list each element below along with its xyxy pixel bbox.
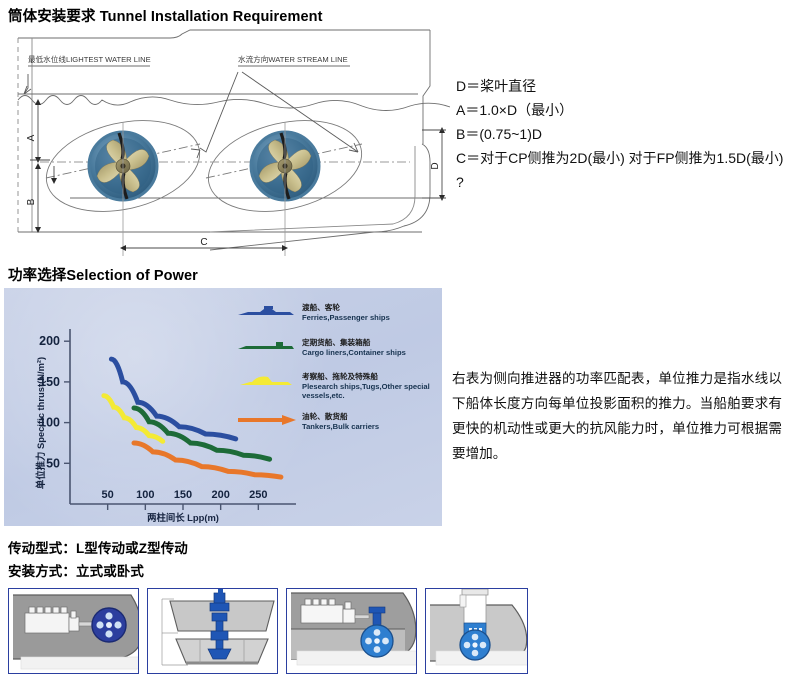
photo-vertical-z-drive[interactable] — [147, 588, 278, 674]
chart-series-line-0 — [111, 359, 235, 439]
svg-text:B: B — [26, 198, 37, 205]
chart-ylabel: 单位推力 Specific thrust(N/m²) — [33, 343, 47, 503]
svg-text:200: 200 — [211, 489, 229, 501]
legend-label-en-1: Cargo liners,Container ships — [302, 348, 406, 357]
chart-xlabel: 两柱间长 Lpp(m) — [70, 510, 296, 524]
page-title-tunnel-installation: 筒体安装要求 Tunnel Installation Requirement — [8, 5, 323, 26]
svg-text:A: A — [26, 134, 37, 141]
chart-series-line-2 — [104, 396, 163, 442]
ship-icon-tanker — [236, 413, 298, 426]
svg-text:150: 150 — [174, 489, 192, 501]
photo-horizontal-l-drive[interactable] — [8, 588, 139, 674]
label-lightest-water-line: 最低水位线LIGHTEST WATER LINE — [28, 54, 151, 65]
section-title-selection-of-power: 功率选择Selection of Power — [8, 264, 198, 285]
svg-text:100: 100 — [136, 489, 154, 501]
legend-label-zh-0: 渡船、客轮 — [302, 303, 390, 313]
formula-a: A＝1.0×D（最小） — [456, 98, 786, 122]
power-selection-note: 右表为侧向推进器的功率匹配表，单位推力是指水线以下船体长度方向每单位投影面积的推… — [452, 366, 782, 466]
legend-item-1 — [236, 340, 298, 353]
mounting-type-text: 安装方式：立式或卧式 — [8, 560, 144, 580]
svg-text:50: 50 — [46, 456, 60, 470]
drive-type-text: 传动型式：L型传动或Z型传动 — [8, 537, 188, 557]
photo-vertical-mounted-thruster[interactable] — [425, 588, 528, 674]
svg-text:50: 50 — [102, 489, 114, 501]
specific-thrust-chart: 5010015020025050100150200 单位推力 Specific … — [4, 288, 442, 526]
legend-label-zh-2: 考察船、拖轮及特殊船 — [302, 372, 434, 382]
legend-item-0 — [236, 305, 298, 318]
svg-text:C: C — [200, 237, 207, 248]
legend-label-en-2: Plesearch ships,Tugs,Other special vesse… — [302, 382, 434, 401]
svg-text:D: D — [430, 162, 441, 169]
installation-photo-strip — [8, 588, 528, 674]
legend-label-zh-3: 油轮、散货船 — [302, 412, 379, 422]
ship-icon-ferry — [236, 305, 298, 318]
ship-icon-research — [236, 374, 298, 388]
formula-unknown: ? — [456, 170, 786, 194]
label-water-stream-line: 水流方向WATER STREAM LINE — [238, 54, 348, 65]
formula-c: C＝对于CP侧推为2D(最小) 对于FP侧推为1.5D(最小) — [456, 146, 786, 170]
formula-d: D＝桨叶直径 — [456, 74, 786, 98]
tunnel-installation-diagram: A B D C 最低水位线LIGHTEST WATER — [10, 26, 450, 256]
legend-label-en-3: Tankers,Bulk carriers — [302, 422, 379, 431]
legend-item-3 — [236, 413, 298, 426]
legend-item-2 — [236, 374, 298, 388]
photo-horizontal-engine-driven[interactable] — [286, 588, 417, 674]
legend-label-en-0: Ferries,Passenger ships — [302, 313, 390, 322]
svg-text:250: 250 — [249, 489, 267, 501]
legend-label-zh-1: 定期货船、集装箱船 — [302, 338, 406, 348]
formula-list: D＝桨叶直径 A＝1.0×D（最小） B＝(0.75~1)D C＝对于CP侧推为… — [456, 74, 786, 194]
ship-icon-cargo — [236, 340, 298, 353]
formula-b: B＝(0.75~1)D — [456, 122, 786, 146]
